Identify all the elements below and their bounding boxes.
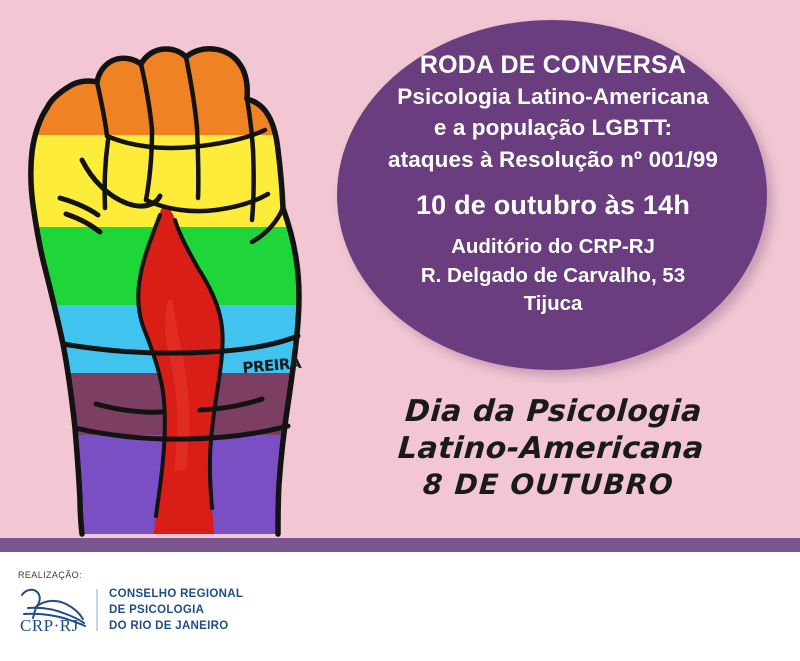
org-line-2: DE PSICOLOGIA: [109, 602, 243, 618]
day-line-3: 8 DE OUTUBRO: [382, 468, 714, 502]
event-venue-line-3: Tijuca: [350, 290, 756, 318]
celebration-day-block: Dia da Psicologia Latino-Americana 8 DE …: [382, 394, 720, 502]
footer-bar: REALIZAÇÃO: CRP·RJ CONSELHO REGIONAL: [0, 552, 800, 661]
day-line-2: Latino-Americana: [385, 431, 718, 468]
event-subject-line-1: Psicologia Latino-Americana: [350, 81, 756, 113]
org-line-1: CONSELHO REGIONAL: [109, 586, 243, 602]
crp-wordmark: CRP·RJ: [20, 616, 79, 636]
event-subject-line-3: ataques à Resolução nº 001/99: [350, 144, 756, 176]
logo-divider: [96, 589, 98, 631]
realizacao-label: REALIZAÇÃO:: [18, 570, 82, 580]
purple-divider-stripe: [0, 538, 800, 552]
event-details-block: RODA DE CONVERSA Psicologia Latino-Ameri…: [350, 50, 756, 318]
crp-book-bird-icon: CRP·RJ: [14, 585, 92, 635]
raised-fist-rainbow-illustration: PREIRA: [0, 0, 360, 545]
org-line-3: DO RIO DE JANEIRO: [109, 618, 243, 634]
poster-canvas: PREIRA RODA DE CONVERSA Psicologia Latin…: [0, 0, 800, 661]
event-headline: RODA DE CONVERSA: [350, 50, 756, 81]
crp-rj-logo: CRP·RJ CONSELHO REGIONAL DE PSICOLOGIA D…: [14, 585, 243, 635]
event-venue-line-2: R. Delgado de Carvalho, 53: [350, 262, 756, 290]
organization-name: CONSELHO REGIONAL DE PSICOLOGIA DO RIO D…: [109, 586, 243, 635]
event-datetime: 10 de outubro às 14h: [350, 190, 756, 221]
event-subject-line-2: e a população LGBTT:: [350, 112, 756, 144]
day-line-1: Dia da Psicologia: [387, 394, 720, 431]
event-venue-line-1: Auditório do CRP-RJ: [350, 233, 756, 261]
